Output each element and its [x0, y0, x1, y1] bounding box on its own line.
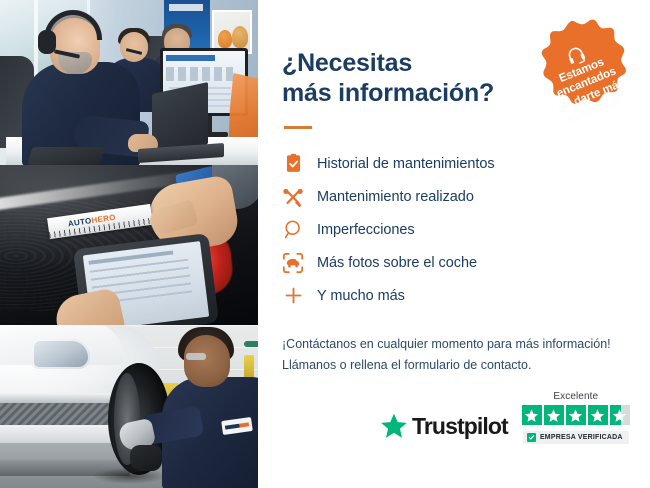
- feature-label: Mantenimiento realizado: [317, 189, 474, 205]
- magnifier-icon: [282, 219, 304, 241]
- star-partial-5: [610, 405, 630, 425]
- status-badge: EMPRESA VERIFICADA: [523, 431, 629, 444]
- feature-label: Imperfecciones: [317, 222, 415, 238]
- car-headlight: [32, 339, 90, 369]
- workshop-wheel-check-photo: [0, 325, 258, 488]
- star-filled-2: [544, 405, 564, 425]
- feature-item-imperfections: Imperfecciones: [282, 213, 626, 246]
- feature-label: Y mucho más: [317, 288, 405, 304]
- title-divider: [284, 126, 312, 129]
- star-filled-1: [522, 405, 542, 425]
- content-panel: ¿Necesitas más información? Historial de…: [258, 0, 650, 488]
- star-filled-4: [588, 405, 608, 425]
- car-bumper: [0, 425, 124, 443]
- verified-badge-label: EMPRESA VERIFICADA: [540, 434, 623, 441]
- star-rating: [522, 405, 630, 425]
- desk-tablet: [27, 147, 104, 165]
- feature-label: Historial de mantenimientos: [317, 156, 495, 172]
- car-chrome-trim: [0, 393, 126, 403]
- autohero-ruler-logo: AUTOHERO: [67, 213, 116, 229]
- trustpilot-rating: Excelente: [522, 391, 630, 444]
- call-center-agents-photo: [0, 0, 258, 165]
- promo-starburst-badge: Estamos encantados de darte más informac…: [511, 5, 650, 153]
- page-title: ¿Necesitas más información?: [282, 48, 522, 108]
- clipboard-check-icon: [282, 153, 304, 175]
- feature-item-maintenance-done: Mantenimiento realizado: [282, 180, 626, 213]
- car-scan-frame-icon: [282, 252, 304, 274]
- feature-list: Historial de mantenimientos Mantenimient…: [282, 147, 626, 312]
- feature-item-more-photos: Más fotos sobre el coche: [282, 246, 626, 279]
- trustpilot-logo[interactable]: Trustpilot: [380, 412, 508, 444]
- check-square-icon: [527, 433, 536, 442]
- star-filled-3: [566, 405, 586, 425]
- trustpilot-wordmark: Trustpilot: [412, 413, 508, 440]
- contact-text: ¡Contáctanos en cualquier momento para m…: [282, 334, 626, 375]
- badge-text: Estamos encantados de darte más informac…: [547, 52, 632, 128]
- feature-item-much-more: Y mucho más: [282, 279, 626, 312]
- headline-line-1: ¿Necesitas: [282, 48, 522, 78]
- green-hose: [244, 341, 258, 347]
- mechanic-safety-glasses: [186, 353, 206, 360]
- mechanic-second-glove: [130, 445, 162, 471]
- mechanic-head: [184, 335, 230, 387]
- feature-label: Más fotos sobre el coche: [317, 255, 477, 271]
- photo-column: AUTOHERO: [0, 0, 258, 488]
- second-agent-head: [120, 32, 148, 62]
- plus-icon: [282, 285, 304, 307]
- wrench-screwdriver-cross-icon: [282, 186, 304, 208]
- trustpilot-star-icon: [380, 412, 408, 440]
- contact-line-2: Llámanos o rellena el formulario de cont…: [282, 355, 626, 376]
- rating-label: Excelente: [553, 391, 598, 402]
- information-banner: AUTOHERO: [0, 0, 650, 488]
- car-inspection-photo: AUTOHERO: [0, 165, 258, 325]
- car-grille: [0, 403, 122, 427]
- badge-content: Estamos encantados de darte más informac…: [506, 1, 650, 160]
- trustpilot-block: Trustpilot Excelente: [380, 391, 630, 444]
- feature-item-maintenance-history: Historial de mantenimientos: [282, 147, 626, 180]
- headline-line-2: más información?: [282, 78, 522, 108]
- contact-line-1: ¡Contáctanos en cualquier momento para m…: [282, 334, 626, 355]
